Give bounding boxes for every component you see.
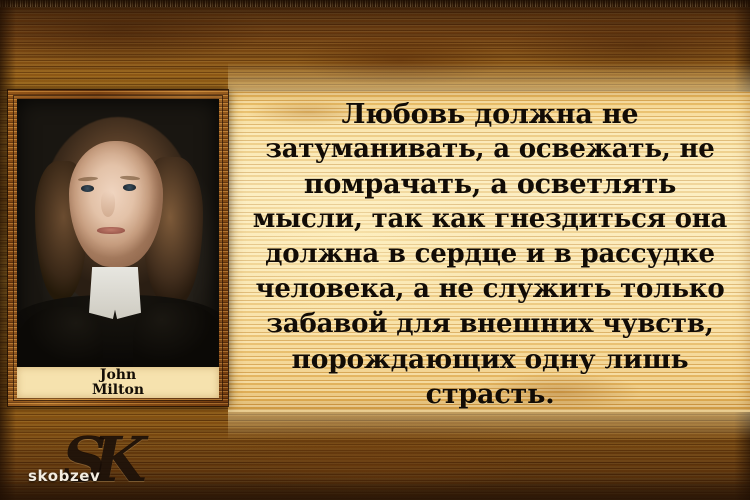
quote-line-1: Любовь должна не: [342, 97, 639, 132]
quote-line-2: затуманивать, а освежать, не: [265, 132, 714, 167]
author-name-line-2: Milton: [92, 383, 144, 398]
portrait-robe-shoulder-right: [133, 303, 219, 367]
portrait-mouth: [97, 227, 125, 234]
portrait-image: [17, 99, 219, 367]
quote-line-9: страсть.: [426, 377, 555, 412]
quote-text-block: Любовь должна не затуманивать, а освежат…: [232, 93, 748, 411]
portrait-eye-right: [123, 184, 136, 191]
portrait-robe-shoulder-left: [17, 307, 103, 367]
quote-line-3: помрачать, а осветлять: [304, 167, 676, 202]
quote-line-5: должна в сердце и в рассудке: [265, 237, 715, 272]
poster-top-edge: [0, 0, 750, 12]
watermark-label: skobzev: [28, 467, 100, 485]
quote-line-6: человека, а не служить только: [255, 272, 724, 307]
portrait-eye-left: [81, 185, 94, 192]
quote-poster: Любовь должна не затуманивать, а освежат…: [0, 0, 750, 500]
quote-line-7: забавой для внешних чувств,: [266, 307, 713, 342]
portrait-nameplate: John Milton: [17, 367, 219, 398]
quote-line-4: мысли, так как гнездиться она: [253, 202, 727, 237]
quote-line-8: порождающих одну лишь: [292, 342, 689, 377]
author-name-line-1: John: [100, 368, 136, 383]
portrait-nose: [101, 191, 115, 217]
portrait-face: [69, 141, 163, 267]
